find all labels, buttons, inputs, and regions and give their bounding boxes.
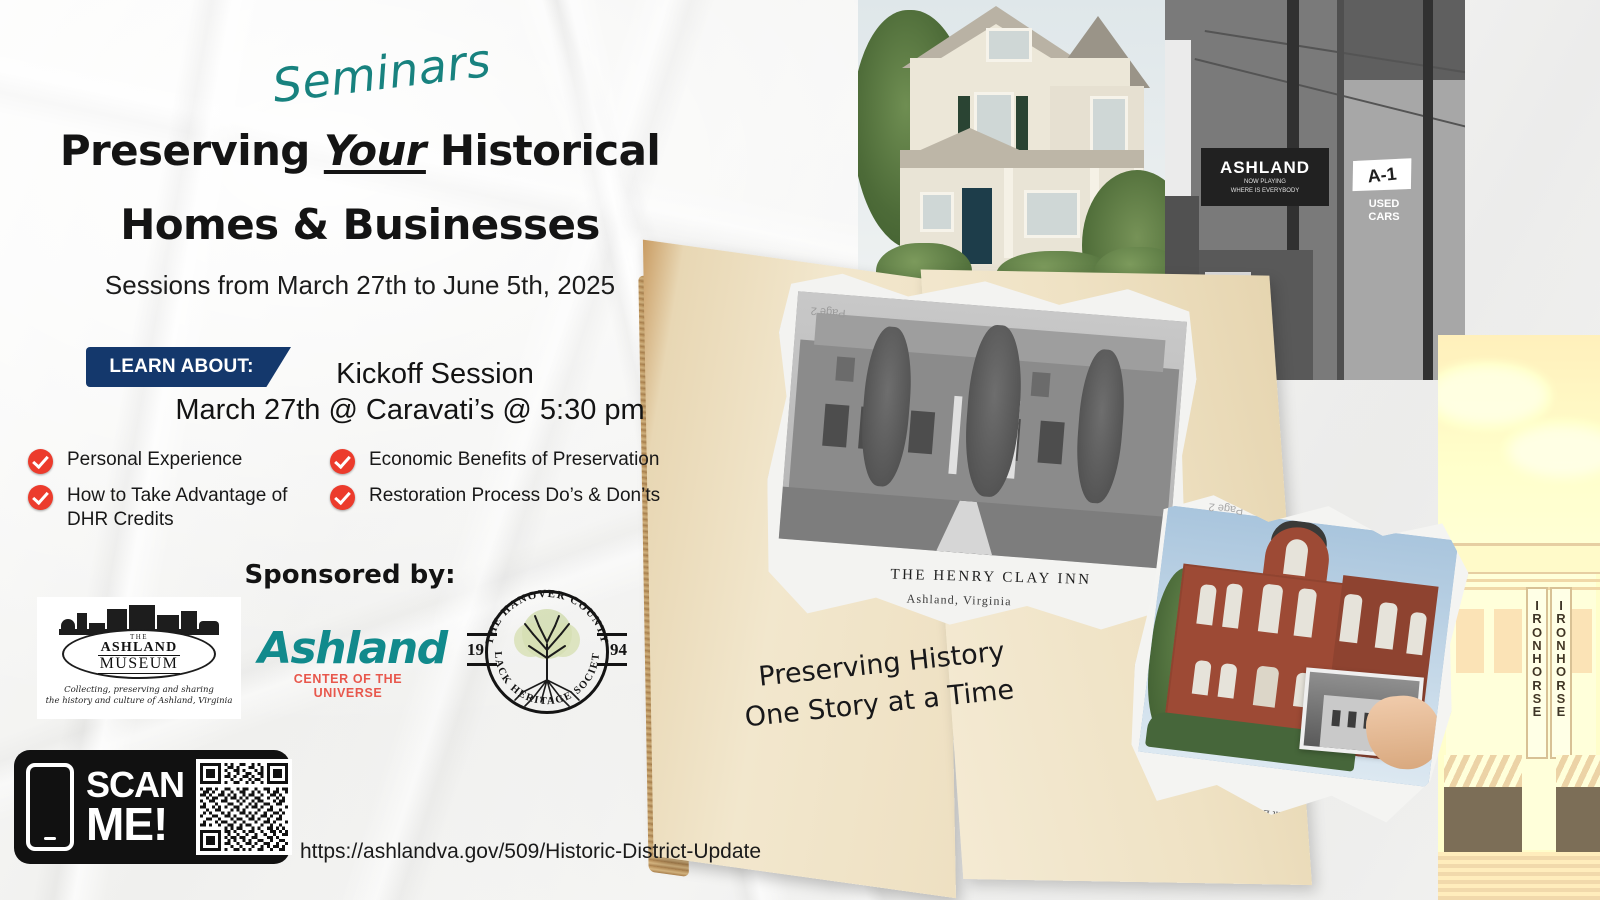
bw-utility-pole-3: [1337, 0, 1344, 380]
seal-graphics: THE HANOVER COUNTY BLACK HERITAGE SOCIET…: [467, 588, 627, 720]
iron-awning-right: [1556, 755, 1600, 789]
ashland-wordmark: Ashland: [258, 628, 438, 670]
bullet-label: Restoration Process Do’s & Don’ts: [369, 484, 660, 508]
phone-icon: [26, 763, 74, 851]
museum-oval-emblem: THE ASHLAND MUSEUM: [62, 629, 216, 679]
bw-marquee-subtitle: NOW PLAYINGWHERE IS EVERYBODY: [1231, 178, 1300, 196]
courthouse-tower-window: [1283, 538, 1309, 576]
postcard-upper-window-3: [1031, 372, 1051, 397]
house-turret-window: [1090, 96, 1128, 158]
sponsored-by-label: Sponsored by:: [40, 560, 660, 590]
title-part-a: Preserving: [60, 126, 324, 175]
seal-tree-icon: [514, 609, 580, 706]
photo-henry-clay-inn-postcard: Page 2 THE HENRY CLAY INN Ashland, Virgi…: [757, 262, 1203, 646]
museum-name-line-2: MUSEUM: [98, 655, 181, 674]
check-circle-icon: [28, 449, 53, 474]
bw-utility-pole-2: [1423, 0, 1433, 380]
bw-theater-marquee: ASHLAND NOW PLAYINGWHERE IS EVERYBODY: [1201, 148, 1329, 206]
iron-storefront-left: [1444, 787, 1522, 853]
logo-hanover-black-heritage-society: THE HANOVER COUNTY BLACK HERITAGE SOCIET…: [467, 588, 627, 720]
bullet-label: How to Take Advantage of DHR Credits: [67, 484, 318, 532]
logo-ashland-cotu: Ashland CENTER OF THE UNIVERSE: [258, 628, 438, 700]
seal-bar-right-top: [597, 633, 627, 636]
iron-vertical-sign-left: IRONHORSE: [1526, 587, 1548, 759]
held-photo-window-2: [1347, 711, 1356, 728]
iron-window-1: [1454, 607, 1486, 675]
bw-route-sign: A-1: [1349, 155, 1414, 195]
bw-used-cars-sign: USED CARS: [1355, 198, 1413, 223]
scan-me-badge[interactable]: SCAN ME!: [14, 750, 290, 864]
kickoff-session-title: Kickoff Session: [200, 358, 670, 391]
postcard-window-1: [822, 404, 849, 448]
postcard-upper-window-1: [835, 356, 855, 381]
museum-tagline: Collecting, preserving and sharing the h…: [46, 685, 233, 708]
iron-street: [1438, 852, 1600, 900]
scan-line-2: ME!: [86, 802, 184, 846]
title-emphasis-your: Your: [324, 126, 426, 175]
postcard-caption: THE HENRY CLAY INN: [890, 567, 1170, 591]
list-item: Economic Benefits of Preservation: [330, 448, 700, 474]
logo-ashland-museum: THE ASHLAND MUSEUM Collecting, preservin…: [37, 597, 241, 719]
museum-tagline-line-2: the history and culture of Ashland, Virg…: [46, 696, 233, 707]
seal-bar-left-top: [467, 633, 497, 636]
museum-tagline-line-1: Collecting, preserving and sharing: [46, 685, 233, 696]
scan-me-text: SCAN ME!: [86, 768, 184, 847]
check-circle-icon: [330, 449, 355, 474]
iron-vertical-sign-right: IRONHORSE: [1550, 587, 1572, 759]
postcard-window-5: [1038, 421, 1065, 465]
page-title-line-1: Preserving Your Historical: [40, 126, 680, 175]
scan-line-1: SCAN: [86, 768, 184, 803]
title-part-b: Historical: [426, 126, 660, 175]
iron-awning-left: [1444, 755, 1522, 789]
house-porch-window: [920, 192, 954, 232]
check-circle-icon: [330, 485, 355, 510]
seal-year-right: 94: [610, 640, 627, 660]
courthouse-image: [1138, 505, 1458, 787]
held-photo-window-1: [1331, 710, 1340, 727]
house-porch-window-2: [1024, 190, 1080, 238]
house-porch-roof: [900, 150, 1144, 168]
page-title-line-2: Homes & Businesses: [40, 200, 680, 249]
seal-bar-right-bottom: [597, 663, 627, 666]
bw-marquee-title: ASHLAND: [1220, 158, 1310, 178]
house-porch-pediment: [916, 128, 1024, 152]
kickoff-session-details: March 27th @ Caravati’s @ 5:30 pm: [150, 394, 670, 427]
list-item: Restoration Process Do’s & Don’ts: [330, 484, 700, 510]
event-url[interactable]: https://ashlandva.gov/509/Historic-Distr…: [300, 840, 761, 864]
seal-bar-left-bottom: [467, 663, 497, 666]
bullet-label: Economic Benefits of Preservation: [369, 448, 659, 472]
qr-code-icon: [200, 763, 288, 851]
iron-storefront-right: [1556, 787, 1600, 853]
bullet-column-right: Economic Benefits of Preservation Restor…: [330, 448, 700, 520]
qr-code[interactable]: [196, 759, 292, 855]
postcard-window-3: [908, 410, 935, 454]
bullet-column-left: Personal Experience How to Take Advantag…: [28, 448, 318, 542]
poster-canvas: ASHLAND NOW PLAYINGWHERE IS EVERYBODY A-…: [0, 0, 1600, 900]
list-item: How to Take Advantage of DHR Credits: [28, 484, 318, 532]
eyebrow-seminars: Seminars: [270, 33, 494, 113]
photo-iron-horse-sepia: IRONHORSE IRONHORSE: [1438, 335, 1600, 900]
museum-name-line-1: ASHLAND: [101, 641, 178, 656]
house-attic-window: [986, 28, 1032, 62]
session-dates: Sessions from March 27th to June 5th, 20…: [40, 270, 680, 301]
photo-brick-courthouse: Page 2 erwriter and Joint Bookbinder: [1117, 482, 1475, 849]
list-item: Personal Experience: [28, 448, 318, 474]
bullet-label: Personal Experience: [67, 448, 242, 472]
house-porch-column-1: [1004, 168, 1013, 258]
iron-window-2: [1492, 607, 1524, 675]
bw-distant-house: [1165, 40, 1191, 200]
postcard-image: [779, 291, 1187, 569]
check-circle-icon: [28, 485, 53, 510]
ashland-tagline: CENTER OF THE UNIVERSE: [258, 672, 438, 700]
seal-year-left: 19: [467, 640, 484, 660]
